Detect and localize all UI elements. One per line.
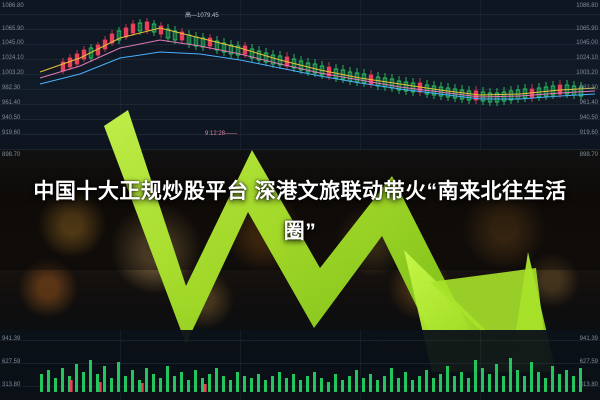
main-axis-left-label: 940.50 [2,115,20,122]
main-axis-right-label: 1024.10 [576,55,598,62]
main-axis-left-label: 1045.00 [2,40,24,47]
ma-line-yellow [40,28,595,95]
volume-bar-series [0,330,600,400]
main-axis-left-label: 961.40 [2,100,20,107]
main-axis-right-label: 1003.20 [576,70,598,77]
ma-line-pink [40,40,595,97]
volume-axis-right-label: 313.80 [580,382,598,389]
main-axis-left-label: 982.30 [2,85,20,92]
main-axis-right-label: 1045.00 [576,40,598,47]
volume-axis-right-label: 941.39 [580,336,598,343]
main-axis-left-label: 1003.20 [2,70,24,77]
volume-axis-right-label: 627.59 [580,359,598,366]
high-price-annotation: 高—1079.45 [185,10,219,19]
main-axis-right-label: 1065.90 [576,26,598,33]
main-axis-left-label: 919.60 [2,130,20,137]
volume-axis-left-label: 941.39 [2,336,20,343]
main-axis-right-label: 940.50 [580,115,598,122]
screenshot-root: 1086.80 1065.90 1045.00 1024.10 1003.20 … [0,0,600,400]
page-title: 中国十大正规炒股平台 深港文旅联动带火“南来北往生活圈” [18,172,582,252]
main-axis-left-label: 898.70 [2,152,20,159]
volume-axis-left-label: 313.80 [2,382,20,389]
main-axis-left-label: 1024.10 [2,55,24,62]
candlestick-series [0,0,600,150]
main-axis-left-label: 1065.90 [2,26,24,33]
main-axis-right-label: 1086.80 [576,3,598,10]
ma-line-blue [40,52,595,99]
volume-axis-left-label: 627.59 [2,359,20,366]
main-axis-left-label: 1086.80 [2,3,24,10]
main-axis-right-label: 961.40 [580,100,598,107]
volume-chart: 941.39 627.59 313.80 941.39 627.59 313.8… [0,330,600,400]
main-axis-right-label: 982.30 [580,85,598,92]
main-price-chart: 1086.80 1065.90 1045.00 1024.10 1003.20 … [0,0,600,150]
main-axis-right-label: 919.60 [580,130,598,137]
main-axis-right-label: 898.70 [580,152,598,159]
time-annotation: 9:12:28—— [205,131,237,137]
